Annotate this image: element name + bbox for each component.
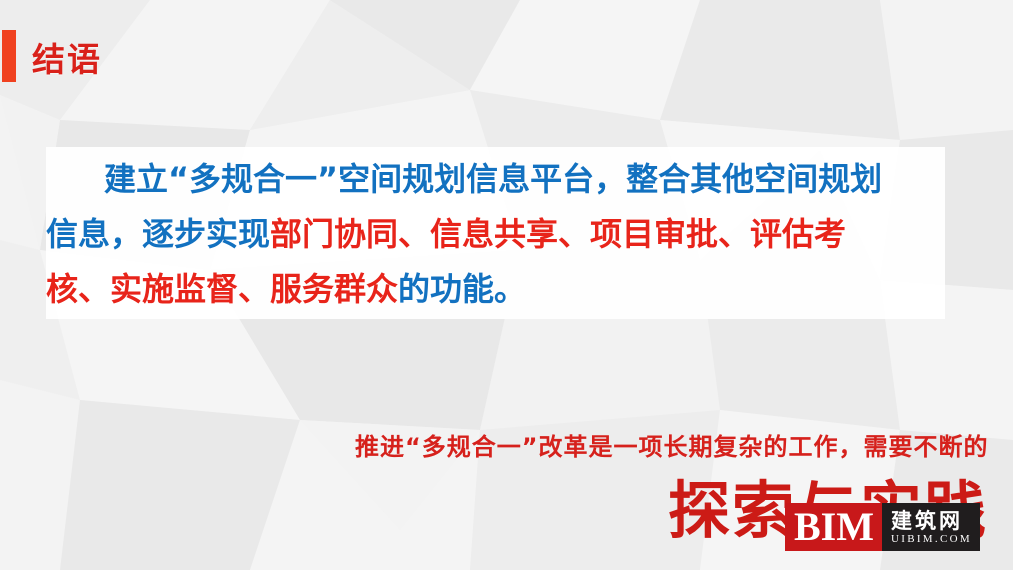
content-line-3-segment-1: 核、实施监督、服务群众 bbox=[46, 270, 398, 308]
watermark-name-cn: 建筑网 bbox=[891, 509, 972, 533]
content-line-3: 核、实施监督、服务群众的功能。 bbox=[46, 262, 956, 317]
content-line-1-segment-1: 建立“多规合一”空间规划信息平台，整合其他空间规划 bbox=[104, 160, 882, 198]
watermark-brand: BIM bbox=[785, 503, 882, 551]
slide-canvas: 结语 建立“多规合一”空间规划信息平台，整合其他空间规划 信息，逐步实现部门协同… bbox=[0, 0, 1013, 570]
content-line-1: 建立“多规合一”空间规划信息平台，整合其他空间规划 bbox=[46, 152, 956, 207]
watermark-panel: 建筑网 UIBIM.COM bbox=[882, 503, 980, 551]
closing-statement-small: 推进“多规合一”改革是一项长期复杂的工作，需要不断的 bbox=[355, 430, 989, 464]
content-line-2: 信息，逐步实现部门协同、信息共享、项目审批、评估考 bbox=[46, 207, 956, 262]
content-panel-text: 建立“多规合一”空间规划信息平台，整合其他空间规划 信息，逐步实现部门协同、信息… bbox=[46, 152, 956, 317]
content-line-2-segment-1: 信息，逐步实现 bbox=[46, 215, 270, 253]
page-title: 结语 bbox=[32, 38, 102, 82]
bim-watermark: BIM 建筑网 UIBIM.COM bbox=[785, 503, 980, 551]
content-line-2-segment-2: 部门协同、信息共享、项目审批、评估考 bbox=[270, 215, 846, 253]
content-line-3-segment-2: 的功能。 bbox=[398, 270, 526, 308]
header-accent-bar bbox=[2, 30, 16, 82]
watermark-url: UIBIM.COM bbox=[891, 533, 972, 546]
